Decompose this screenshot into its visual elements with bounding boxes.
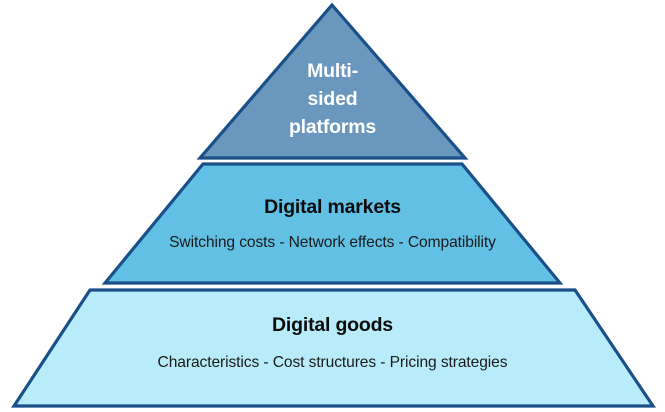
pyramid-tier-1-shape[interactable]: [200, 5, 465, 158]
pyramid-diagram: Multi- sided platforms Digital markets S…: [0, 0, 665, 412]
pyramid-shape-layer: [0, 0, 665, 412]
pyramid-tier-3-shape[interactable]: [14, 290, 653, 406]
pyramid-tier-2-shape[interactable]: [105, 164, 560, 283]
